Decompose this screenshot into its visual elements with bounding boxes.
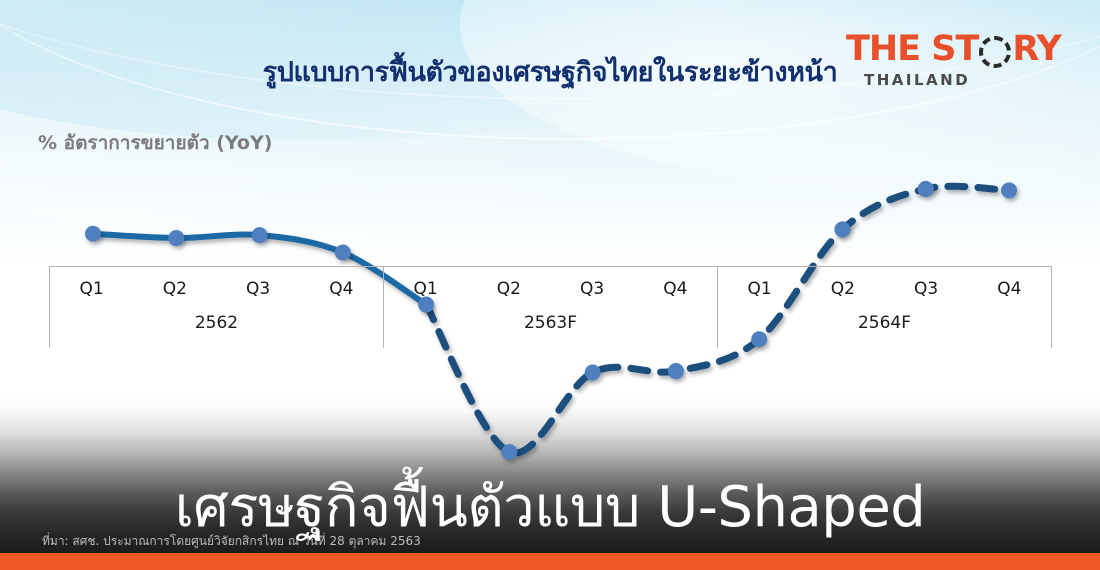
quarter-row: Q1 Q2 Q3 Q4 bbox=[50, 267, 383, 311]
year-label: 2562 bbox=[50, 313, 383, 333]
data-point-marker bbox=[501, 444, 517, 460]
quarter-row: Q1 Q2 Q3 Q4 bbox=[384, 267, 717, 311]
quarter-label: Q2 bbox=[801, 279, 884, 299]
category-axis-table: Q1 Q2 Q3 Q4 2562 Q1 Q2 Q3 Q4 2563F Q1 Q2… bbox=[49, 266, 1052, 348]
screenshot-root: รูปแบบการฟื้นตัวของเศรษฐกิจไทยในระยะข้าง… bbox=[0, 0, 1100, 570]
quarter-label: Q1 bbox=[718, 279, 801, 299]
quarter-label: Q2 bbox=[133, 279, 216, 299]
quarter-label: Q4 bbox=[968, 279, 1051, 299]
quarter-row: Q1 Q2 Q3 Q4 bbox=[718, 267, 1051, 311]
quarter-label: Q2 bbox=[467, 279, 550, 299]
quarter-label: Q3 bbox=[551, 279, 634, 299]
quarter-label: Q1 bbox=[50, 279, 133, 299]
category-group-2563F: Q1 Q2 Q3 Q4 2563F bbox=[383, 266, 717, 348]
data-point-marker bbox=[252, 227, 268, 243]
data-point-marker bbox=[834, 221, 850, 237]
bottom-accent-bar bbox=[0, 553, 1100, 570]
quarter-label: Q1 bbox=[384, 279, 467, 299]
data-point-marker bbox=[1001, 182, 1017, 198]
quarter-label: Q3 bbox=[885, 279, 968, 299]
quarter-label: Q3 bbox=[217, 279, 300, 299]
quarter-label: Q4 bbox=[300, 279, 383, 299]
overlay-caption: เศรษฐกิจฟื้นตัวแบบ U-Shaped bbox=[0, 480, 1100, 536]
year-label: 2563F bbox=[384, 313, 717, 333]
category-group-2562: Q1 Q2 Q3 Q4 2562 bbox=[49, 266, 383, 348]
data-point-marker bbox=[918, 181, 934, 197]
quarter-label: Q4 bbox=[634, 279, 717, 299]
data-point-marker bbox=[668, 363, 684, 379]
data-point-marker bbox=[85, 226, 101, 242]
data-point-marker bbox=[335, 245, 351, 261]
data-point-marker bbox=[585, 364, 601, 380]
category-group-2564F: Q1 Q2 Q3 Q4 2564F bbox=[717, 266, 1052, 348]
year-label: 2564F bbox=[718, 313, 1051, 333]
data-point-marker bbox=[168, 230, 184, 246]
